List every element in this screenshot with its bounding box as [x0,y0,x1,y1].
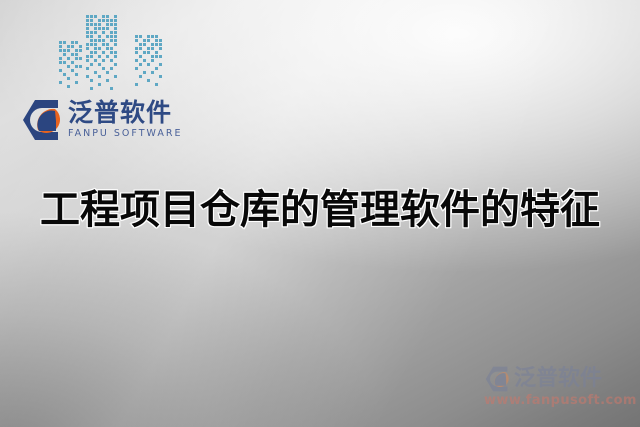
brand-name-en: FANPU SOFTWARE [68,128,182,140]
watermark: 泛普软件 www.fanpusoft.com [484,366,636,408]
fanpu-hexagon-logo-icon [22,99,62,141]
brand-text: 泛普软件 FANPU SOFTWARE [68,99,182,140]
brand-logo: 泛普软件 FANPU SOFTWARE [22,99,182,141]
fanpu-hexagon-logo-icon [484,366,511,392]
pixel-building-skyline-icon [56,6,176,98]
brand-name-cn: 泛普软件 [68,99,182,127]
watermark-name-cn: 泛普软件 [514,367,602,391]
watermark-url: www.fanpusoft.com [484,393,636,408]
watermark-logo-row: 泛普软件 [484,366,636,392]
page-title: 工程项目仓库的管理软件的特征 [0,186,640,234]
slide-canvas: 泛普软件 FANPU SOFTWARE 工程项目仓库的管理软件的特征 泛普软件 … [0,0,640,427]
